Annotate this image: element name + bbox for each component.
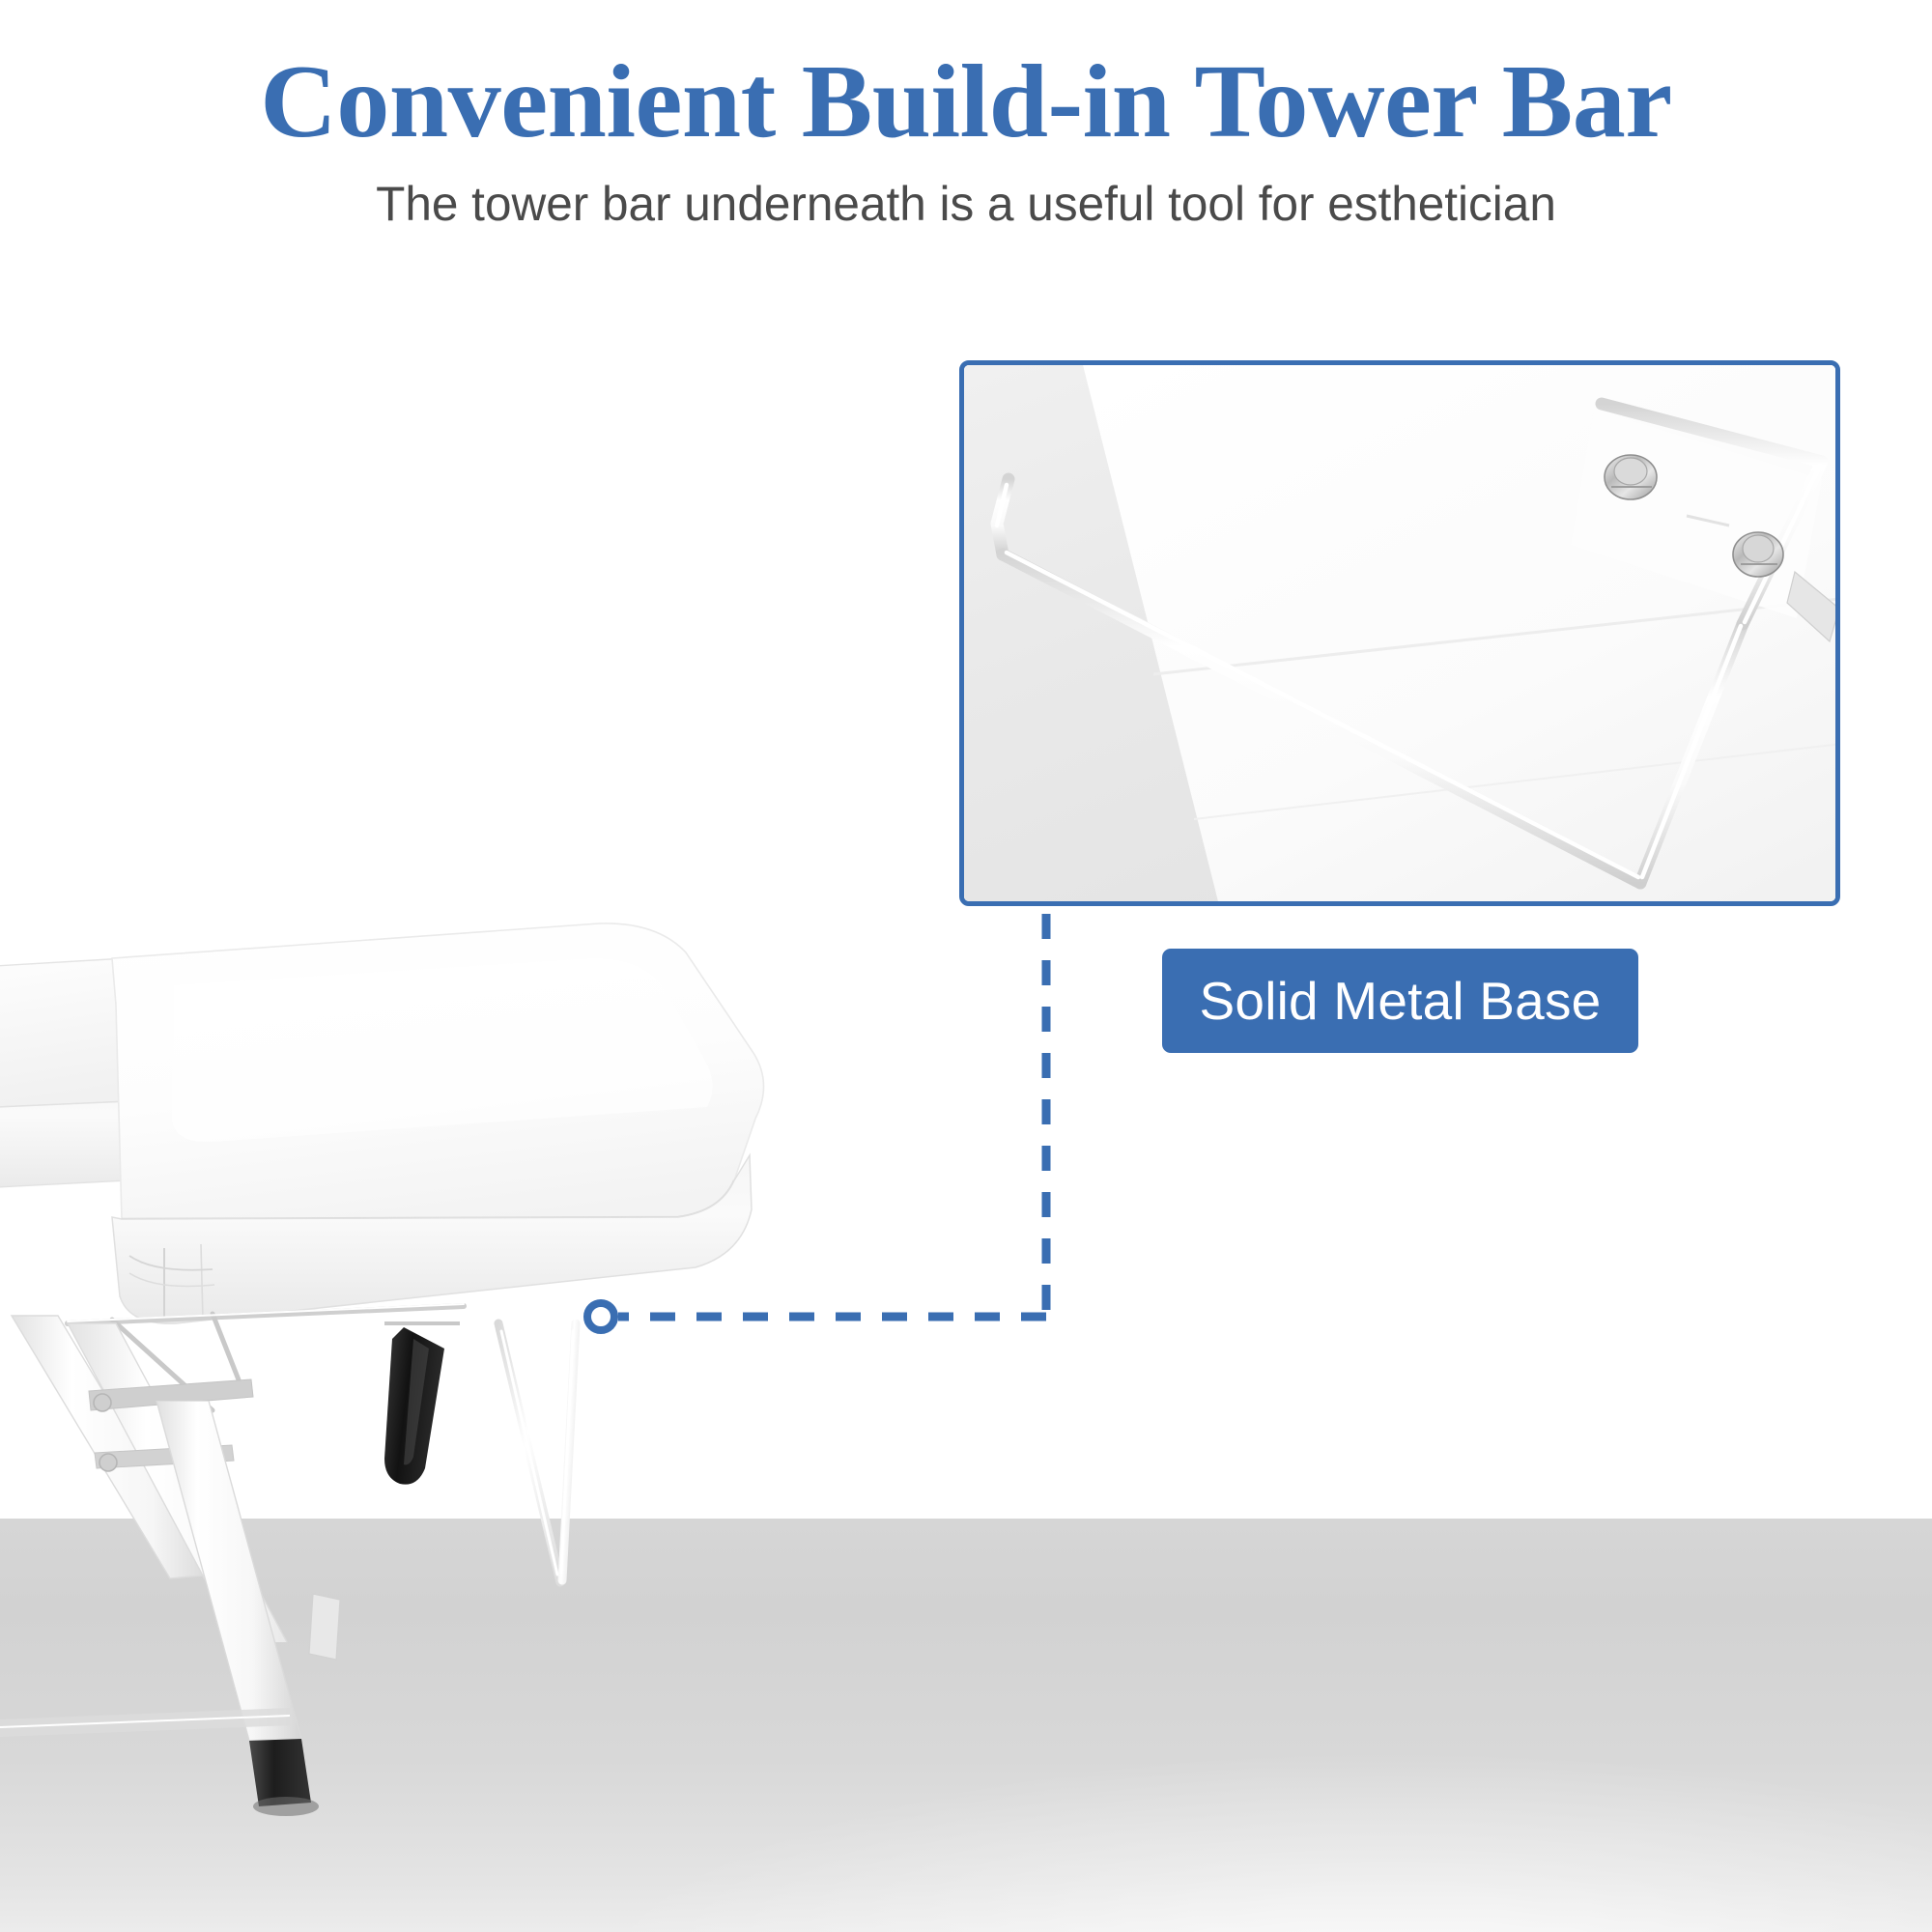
detail-inset-panel[interactable] (959, 360, 1840, 906)
tower-bar-closeup-illustration (964, 365, 1835, 901)
tower-bar-closeup-photo (964, 365, 1835, 901)
product-lower-leg (0, 1401, 676, 1884)
mounting-bolt-right (1733, 532, 1783, 577)
foot-contact-shadow (253, 1797, 319, 1816)
foot-cap (249, 1739, 311, 1806)
status-badge[interactable]: Solid Metal Base (1162, 949, 1638, 1053)
page-title: Convenient Build-in Tower Bar (0, 50, 1932, 155)
leg-hinge (309, 1594, 340, 1660)
main-cushion (112, 923, 764, 1323)
leg-lower-segment (156, 1401, 301, 1741)
lower-leg-illustration (0, 1401, 676, 1884)
page-subtitle: The tower bar underneath is a useful too… (10, 180, 1922, 228)
mounting-bolt-left (1605, 455, 1657, 499)
badge-label: Solid Metal Base (1200, 975, 1602, 1028)
poster-canvas: Convenient Build-in Tower Bar The tower … (0, 0, 1932, 1932)
